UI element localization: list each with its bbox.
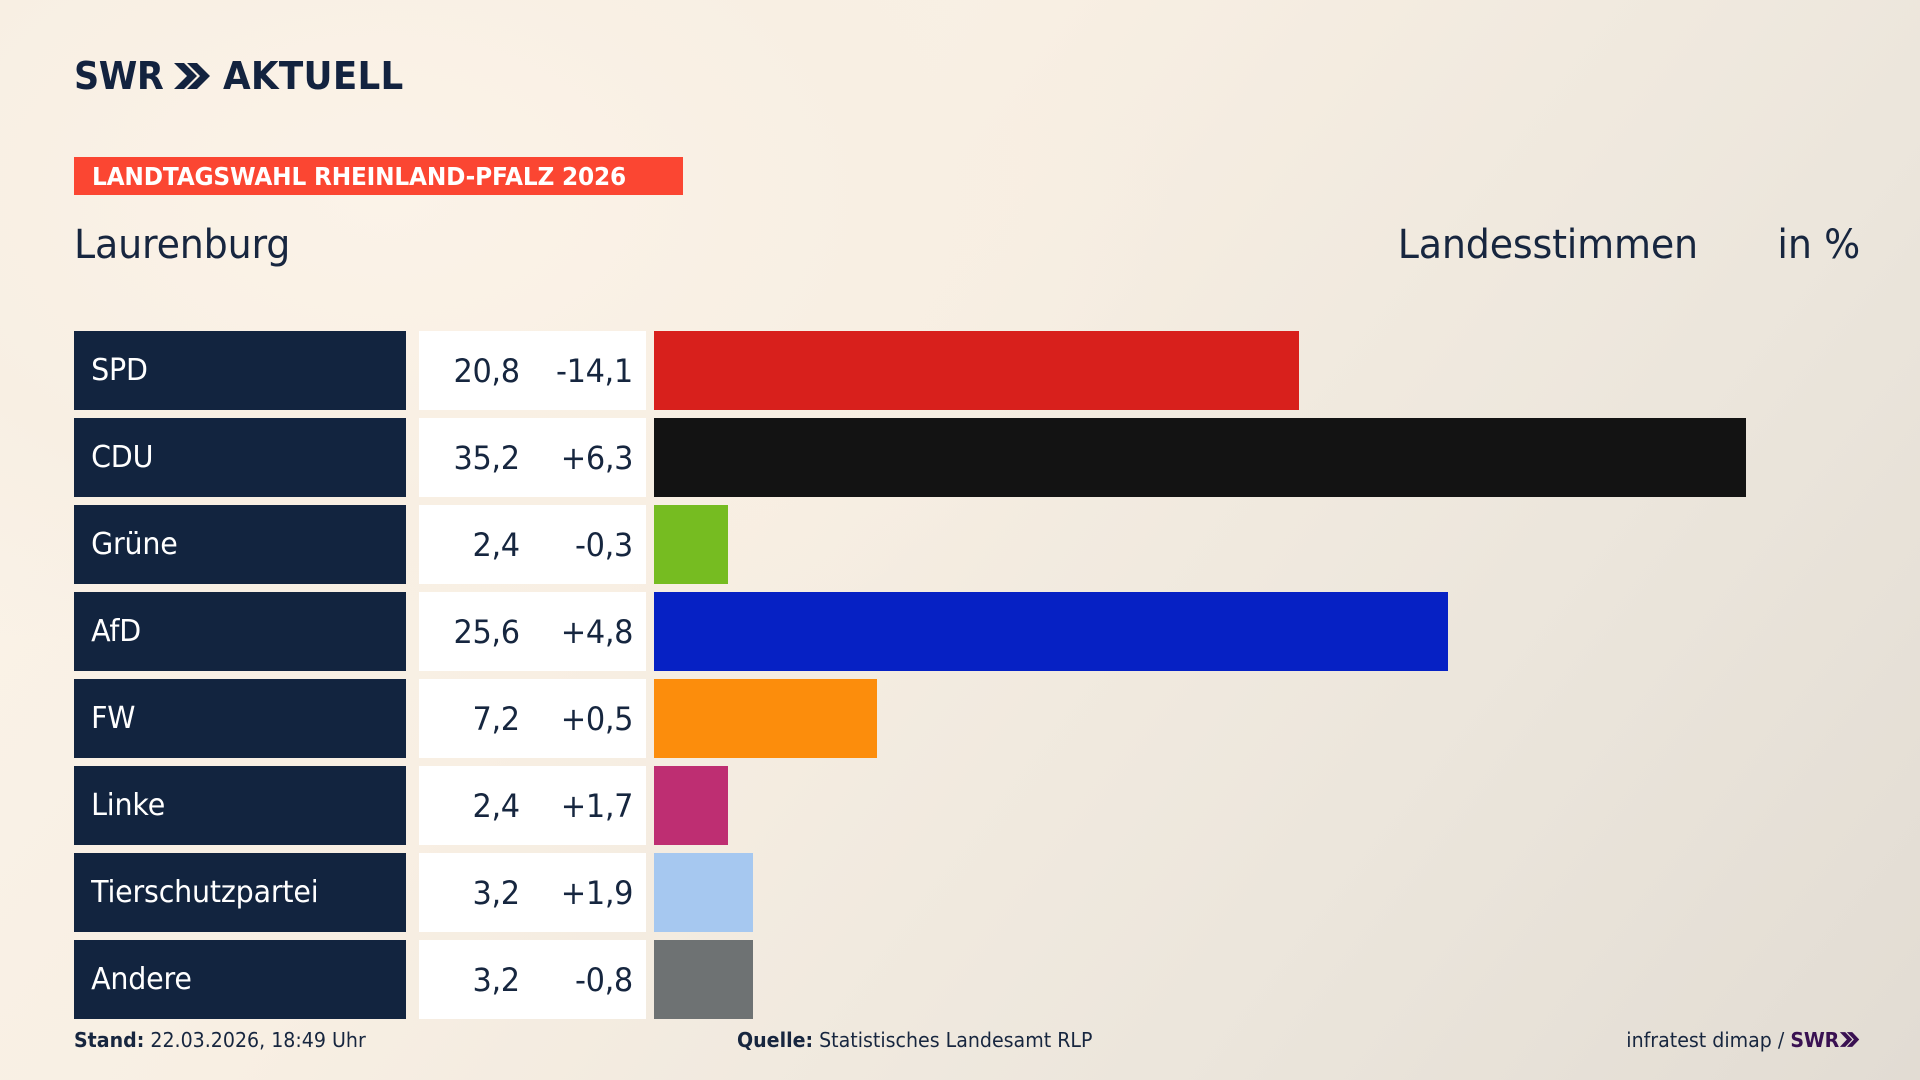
result-bar	[654, 418, 1746, 497]
change-value-cell: +0,5	[529, 679, 646, 758]
double-chevron-right-icon	[1839, 1031, 1860, 1048]
change-value-cell: +6,3	[529, 418, 646, 497]
party-name: Linke	[74, 788, 165, 823]
change-value: +6,3	[561, 439, 633, 477]
change-value-cell: -14,1	[529, 331, 646, 410]
footer-swr-wordmark: SWR	[1790, 1028, 1839, 1052]
party-name: Grüne	[74, 527, 178, 562]
table-row: Linke2,4+1,7	[74, 766, 1864, 845]
change-value: +4,8	[561, 613, 633, 651]
vote-type-label: Landesstimmen	[1398, 222, 1698, 268]
change-value: +0,5	[561, 700, 633, 738]
change-value: +1,9	[561, 874, 633, 912]
footer-credit-separator: /	[1778, 1028, 1784, 1052]
result-value-cell: 3,2	[419, 940, 532, 1019]
election-result-graphic: SWR AKTUELL LANDTAGSWAHL RHEINLAND-PFALZ…	[0, 0, 1920, 1080]
place-title: Laurenburg	[74, 222, 290, 268]
footer: Stand: 22.03.2026, 18:49 Uhr Quelle: Sta…	[0, 1028, 1920, 1062]
result-value-cell: 25,6	[419, 592, 532, 671]
result-value-cell: 7,2	[419, 679, 532, 758]
result-value-cell: 35,2	[419, 418, 532, 497]
party-name: FW	[74, 701, 135, 736]
change-value: -14,1	[556, 352, 633, 390]
footer-quelle-label: Quelle:	[737, 1028, 813, 1052]
result-bar	[654, 766, 728, 845]
bar-track	[654, 766, 1864, 845]
party-cell: AfD	[74, 592, 406, 671]
aktuell-wordmark: AKTUELL	[223, 57, 404, 95]
table-row: SPD20,8-14,1	[74, 331, 1864, 410]
result-value: 3,2	[473, 874, 520, 912]
change-value-cell: -0,3	[529, 505, 646, 584]
election-banner: LANDTAGSWAHL RHEINLAND-PFALZ 2026	[74, 157, 683, 195]
election-banner-text: LANDTAGSWAHL RHEINLAND-PFALZ 2026	[92, 162, 626, 191]
bar-track	[654, 592, 1864, 671]
party-cell: CDU	[74, 418, 406, 497]
result-value: 7,2	[473, 700, 520, 738]
change-value: -0,8	[575, 961, 633, 999]
party-cell: SPD	[74, 331, 406, 410]
result-value-cell: 2,4	[419, 505, 532, 584]
result-value: 25,6	[454, 613, 520, 651]
unit-label: in %	[1777, 222, 1860, 268]
bar-track	[654, 853, 1864, 932]
result-value: 2,4	[473, 787, 520, 825]
table-row: Andere3,2-0,8	[74, 940, 1864, 1019]
party-cell: FW	[74, 679, 406, 758]
table-row: Tierschutzpartei3,2+1,9	[74, 853, 1864, 932]
result-value-cell: 20,8	[419, 331, 532, 410]
result-value: 2,4	[473, 526, 520, 564]
bar-track	[654, 505, 1864, 584]
footer-stand-value: 22.03.2026, 18:49 Uhr	[150, 1028, 365, 1052]
result-value: 35,2	[454, 439, 520, 477]
party-cell: Tierschutzpartei	[74, 853, 406, 932]
party-name: CDU	[74, 440, 153, 475]
change-value-cell: +1,9	[529, 853, 646, 932]
result-bar	[654, 940, 753, 1019]
footer-credit: infratest dimap / SWR	[1626, 1028, 1860, 1052]
party-name: Tierschutzpartei	[74, 875, 318, 910]
footer-credit-institute: infratest dimap	[1626, 1028, 1772, 1052]
change-value-cell: -0,8	[529, 940, 646, 1019]
change-value-cell: +4,8	[529, 592, 646, 671]
table-row: CDU35,2+6,3	[74, 418, 1864, 497]
result-bar	[654, 331, 1299, 410]
party-name: AfD	[74, 614, 141, 649]
result-bar	[654, 505, 728, 584]
change-value: -0,3	[575, 526, 633, 564]
result-bar	[654, 592, 1448, 671]
bar-track	[654, 940, 1864, 1019]
swr-wordmark: SWR	[74, 57, 163, 95]
party-name: Andere	[74, 962, 192, 997]
double-chevron-right-icon	[174, 61, 210, 91]
table-row: AfD25,6+4,8	[74, 592, 1864, 671]
party-name: SPD	[74, 353, 148, 388]
result-bar	[654, 853, 753, 932]
change-value: +1,7	[561, 787, 633, 825]
footer-stand: Stand: 22.03.2026, 18:49 Uhr	[74, 1028, 366, 1052]
party-cell: Grüne	[74, 505, 406, 584]
party-cell: Linke	[74, 766, 406, 845]
bar-track	[654, 418, 1864, 497]
result-value: 20,8	[454, 352, 520, 390]
swr-aktuell-logo: SWR AKTUELL	[74, 53, 415, 99]
result-bar	[654, 679, 877, 758]
bar-track	[654, 331, 1864, 410]
change-value-cell: +1,7	[529, 766, 646, 845]
result-value-cell: 3,2	[419, 853, 532, 932]
table-row: FW7,2+0,5	[74, 679, 1864, 758]
result-value: 3,2	[473, 961, 520, 999]
footer-quelle-value: Statistisches Landesamt RLP	[819, 1028, 1092, 1052]
result-value-cell: 2,4	[419, 766, 532, 845]
footer-stand-label: Stand:	[74, 1028, 144, 1052]
footer-quelle: Quelle: Statistisches Landesamt RLP	[737, 1028, 1092, 1052]
results-table: SPD20,8-14,1CDU35,2+6,3Grüne2,4-0,3AfD25…	[74, 331, 1864, 1027]
party-cell: Andere	[74, 940, 406, 1019]
bar-track	[654, 679, 1864, 758]
table-row: Grüne2,4-0,3	[74, 505, 1864, 584]
